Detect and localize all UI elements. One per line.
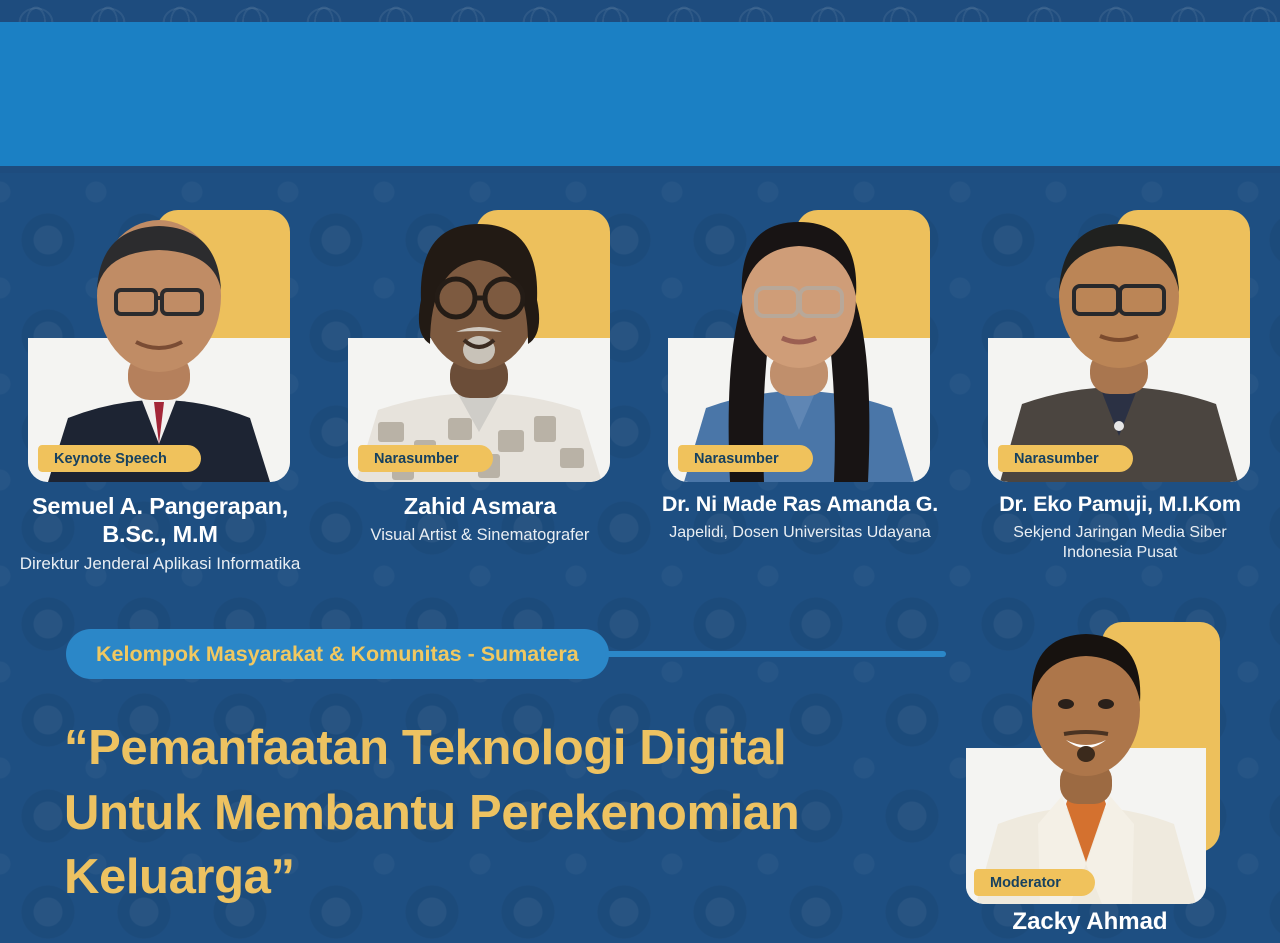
speaker-name: Zahid Asmara xyxy=(326,492,634,520)
speaker-role-badge: Narasumber xyxy=(358,445,493,472)
speaker-card: Narasumber Zahid Asmara Visual Artist & … xyxy=(320,196,640,596)
speaker-name-line-1: Zahid Asmara xyxy=(326,492,634,520)
moderator-name: Zacky Ahmad xyxy=(960,908,1220,936)
speaker-name-line-2: B.Sc., M.M xyxy=(6,520,314,548)
moderator-card: Moderator Zacky Ahmad xyxy=(960,610,1250,943)
speaker-card: Narasumber Dr. Ni Made Ras Amanda G. Jap… xyxy=(640,196,960,596)
speaker-card: Narasumber Dr. Eko Pamuji, M.I.Kom Sekje… xyxy=(960,196,1280,596)
speaker-portrait-photo xyxy=(668,204,930,482)
speaker-role-badge: Narasumber xyxy=(998,445,1133,472)
speaker-title-line-1: Sekjend Jaringan Media Siber xyxy=(966,523,1274,543)
moderator-role-badge: Moderator xyxy=(974,869,1095,896)
speaker-title-line-1: Direktur Jenderal Aplikasi Informatika xyxy=(6,553,314,574)
speaker-meta: Zahid Asmara Visual Artist & Sinematogra… xyxy=(320,492,640,546)
speaker-title: Direktur Jenderal Aplikasi Informatika xyxy=(6,553,314,574)
speaker-photo-card: Keynote Speech xyxy=(24,196,296,482)
top-ornament-strip xyxy=(0,0,1280,22)
speaker-photo-card: Narasumber xyxy=(344,196,616,482)
speaker-role-badge: Narasumber xyxy=(678,445,813,472)
speaker-list: Keynote Speech Semuel A. Pangerapan, B.S… xyxy=(0,196,1280,596)
speaker-role-badge: Keynote Speech xyxy=(38,445,201,472)
session-category-pill: Kelompok Masyarakat & Komunitas - Sumate… xyxy=(66,629,609,679)
speaker-title: Visual Artist & Sinematografer xyxy=(326,525,634,546)
moderator-portrait-photo xyxy=(966,618,1206,904)
speaker-photo-card: Narasumber xyxy=(664,196,936,482)
speaker-title: Japelidi, Dosen Universitas Udayana xyxy=(646,523,954,543)
speaker-title-line-1: Japelidi, Dosen Universitas Udayana xyxy=(646,523,954,543)
session-category-row: Kelompok Masyarakat & Komunitas - Sumate… xyxy=(66,629,946,679)
header-band xyxy=(0,22,1280,166)
speaker-meta: Dr. Eko Pamuji, M.I.Kom Sekjend Jaringan… xyxy=(960,492,1280,563)
speaker-title-line-2: Indonesia Pusat xyxy=(966,543,1274,563)
session-title-line-2: Untuk Membantu Perekenomian xyxy=(64,781,924,846)
speaker-name-line-1: Semuel A. Pangerapan, xyxy=(6,492,314,520)
moderator-photo-card: Moderator xyxy=(960,618,1220,904)
speaker-portrait-photo xyxy=(348,204,610,482)
speaker-meta: Dr. Ni Made Ras Amanda G. Japelidi, Dose… xyxy=(640,492,960,543)
poster-canvas: MAKIN CAKAP DIGITAL 2023 Program Literas… xyxy=(0,0,1280,943)
header-bottom-edge xyxy=(0,166,1280,173)
speaker-card: Keynote Speech Semuel A. Pangerapan, B.S… xyxy=(0,196,320,596)
speaker-name-line-1: Dr. Eko Pamuji, M.I.Kom xyxy=(966,492,1274,518)
speaker-name: Semuel A. Pangerapan, B.Sc., M.M xyxy=(6,492,314,548)
session-title-line-1: “Pemanfaatan Teknologi Digital xyxy=(64,716,924,781)
session-title: “Pemanfaatan Teknologi Digital Untuk Mem… xyxy=(64,716,924,910)
speaker-title-line-1: Visual Artist & Sinematografer xyxy=(326,525,634,546)
session-category-connector-line xyxy=(605,651,946,657)
speaker-title: Sekjend Jaringan Media Siber Indonesia P… xyxy=(966,523,1274,563)
speaker-photo-card: Narasumber xyxy=(984,196,1256,482)
speaker-name: Dr. Ni Made Ras Amanda G. xyxy=(646,492,954,518)
speaker-meta: Semuel A. Pangerapan, B.Sc., M.M Direktu… xyxy=(0,492,320,575)
speaker-portrait-photo xyxy=(28,204,290,482)
speaker-portrait-photo xyxy=(988,204,1250,482)
speaker-name-line-1: Dr. Ni Made Ras Amanda G. xyxy=(646,492,954,518)
session-title-line-3: Keluarga” xyxy=(64,845,924,910)
speaker-name: Dr. Eko Pamuji, M.I.Kom xyxy=(966,492,1274,518)
